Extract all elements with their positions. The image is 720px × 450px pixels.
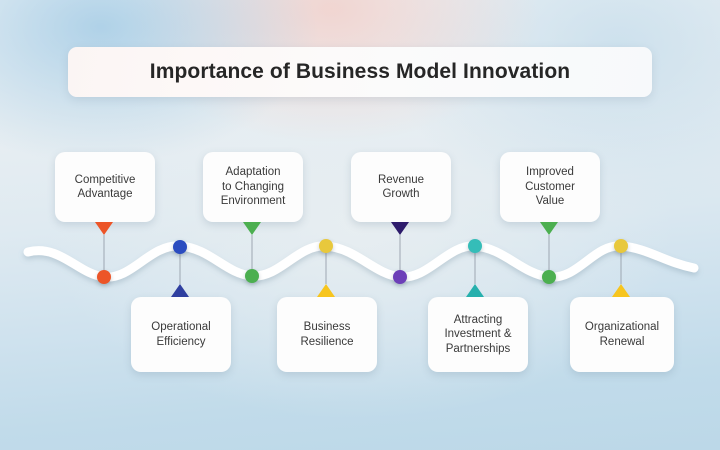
card-operational-efficiency[interactable]: OperationalEfficiency <box>131 297 231 372</box>
card-label-adaptation-to-changing-environment: Adaptationto ChangingEnvironment <box>214 165 293 209</box>
wave-dot-organizational-renewal[interactable] <box>614 239 628 253</box>
card-adaptation-to-changing-environment[interactable]: Adaptationto ChangingEnvironment <box>203 152 303 222</box>
card-label-improved-customer-value: ImprovedCustomerValue <box>518 165 582 209</box>
card-competitive-advantage[interactable]: CompetitiveAdvantage <box>55 152 155 222</box>
pointer-triangle-revenue-growth <box>391 222 409 235</box>
wave-dot-operational-efficiency[interactable] <box>173 240 187 254</box>
infographic-canvas: Importance of Business Model Innovation … <box>0 0 720 450</box>
card-organizational-renewal[interactable]: OrganizationalRenewal <box>570 297 674 372</box>
page-title: Importance of Business Model Innovation <box>150 60 570 84</box>
pointer-triangle-business-resilience <box>317 284 335 297</box>
card-label-revenue-growth: RevenueGrowth <box>371 173 431 202</box>
pointer-triangle-competitive-advantage <box>95 222 113 235</box>
pointer-triangle-operational-efficiency <box>171 284 189 297</box>
wave-dot-business-resilience[interactable] <box>319 239 333 253</box>
wave-dot-adaptation-to-changing-environment[interactable] <box>245 269 259 283</box>
pointer-triangle-attracting-investment-partnerships <box>466 284 484 297</box>
card-label-operational-efficiency: OperationalEfficiency <box>144 320 217 349</box>
card-label-attracting-investment-partnerships: AttractingInvestment &Partnerships <box>437 313 518 357</box>
card-label-organizational-renewal: OrganizationalRenewal <box>578 320 666 349</box>
pointer-triangle-improved-customer-value <box>540 222 558 235</box>
card-improved-customer-value[interactable]: ImprovedCustomerValue <box>500 152 600 222</box>
card-label-competitive-advantage: CompetitiveAdvantage <box>68 173 143 202</box>
wave-dot-attracting-investment-partnerships[interactable] <box>468 239 482 253</box>
card-label-business-resilience: BusinessResilience <box>293 320 360 349</box>
card-attracting-investment-partnerships[interactable]: AttractingInvestment &Partnerships <box>428 297 528 372</box>
card-revenue-growth[interactable]: RevenueGrowth <box>351 152 451 222</box>
wave-dot-competitive-advantage[interactable] <box>97 270 111 284</box>
wave-dot-improved-customer-value[interactable] <box>542 270 556 284</box>
wave-dot-revenue-growth[interactable] <box>393 270 407 284</box>
pointer-triangle-adaptation-to-changing-environment <box>243 222 261 235</box>
pointer-triangle-organizational-renewal <box>612 284 630 297</box>
title-card: Importance of Business Model Innovation <box>68 47 652 97</box>
card-business-resilience[interactable]: BusinessResilience <box>277 297 377 372</box>
